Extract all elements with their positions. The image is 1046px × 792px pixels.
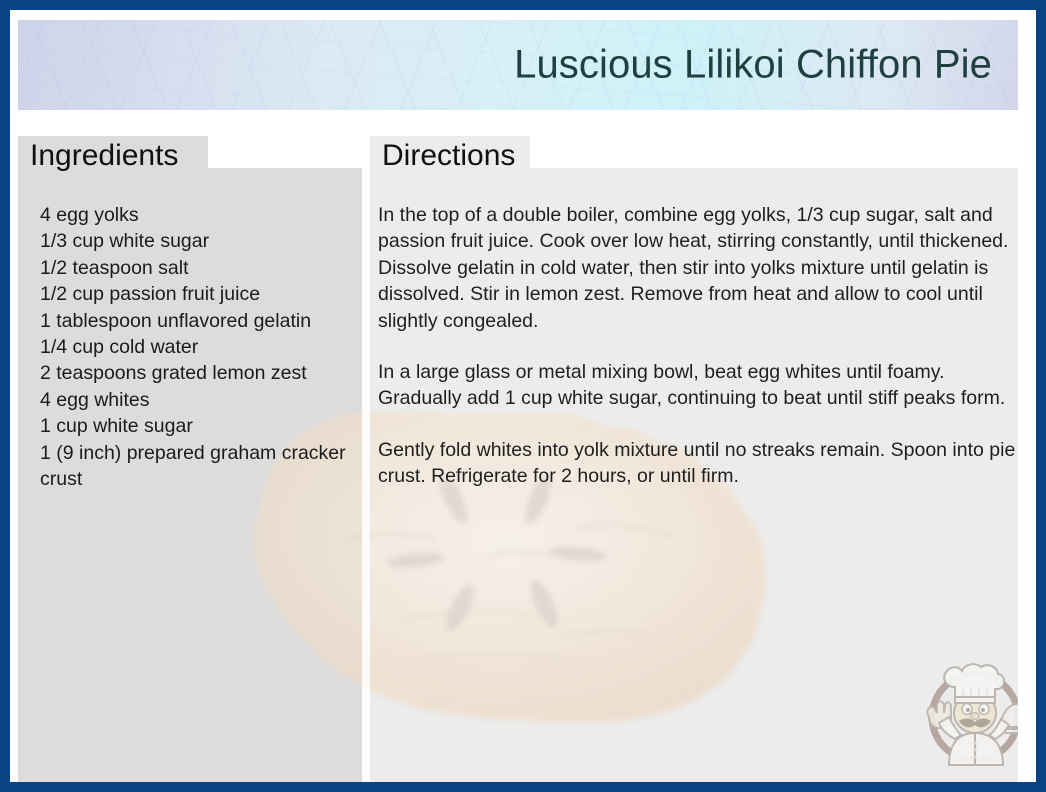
ingredients-heading: Ingredients [18, 136, 208, 176]
direction-paragraph: In a large glass or metal mixing bowl, b… [378, 359, 1023, 412]
directions-heading-label: Directions [382, 139, 515, 173]
list-item: 4 egg whites [40, 387, 350, 413]
list-item: 1 (9 inch) prepared graham cracker crust [40, 440, 350, 493]
column-gutter [362, 168, 370, 782]
directions-body: In the top of a double boiler, combine e… [378, 202, 1023, 490]
direction-paragraph: In the top of a double boiler, combine e… [378, 202, 1023, 334]
recipe-card: Luscious Lilikoi Chiffon Pie Ingredients… [10, 10, 1036, 782]
list-item: 1 tablespoon unflavored gelatin [40, 308, 350, 334]
list-item: 2 teaspoons grated lemon zest [40, 360, 350, 386]
list-item: 1/3 cup white sugar [40, 228, 350, 254]
list-item: 4 egg yolks [40, 202, 350, 228]
direction-paragraph: Gently fold whites into yolk mixture unt… [378, 437, 1023, 490]
title-banner: Luscious Lilikoi Chiffon Pie [18, 20, 1018, 110]
directions-heading: Directions [370, 136, 530, 176]
list-item: 1/2 cup passion fruit juice [40, 281, 350, 307]
list-item: 1/4 cup cold water [40, 334, 350, 360]
ingredients-list: 4 egg yolks 1/3 cup white sugar 1/2 teas… [40, 202, 350, 492]
ingredients-heading-label: Ingredients [30, 139, 178, 173]
recipe-title: Luscious Lilikoi Chiffon Pie [514, 43, 992, 88]
list-item: 1 cup white sugar [40, 413, 350, 439]
list-item: 1/2 teaspoon salt [40, 255, 350, 281]
